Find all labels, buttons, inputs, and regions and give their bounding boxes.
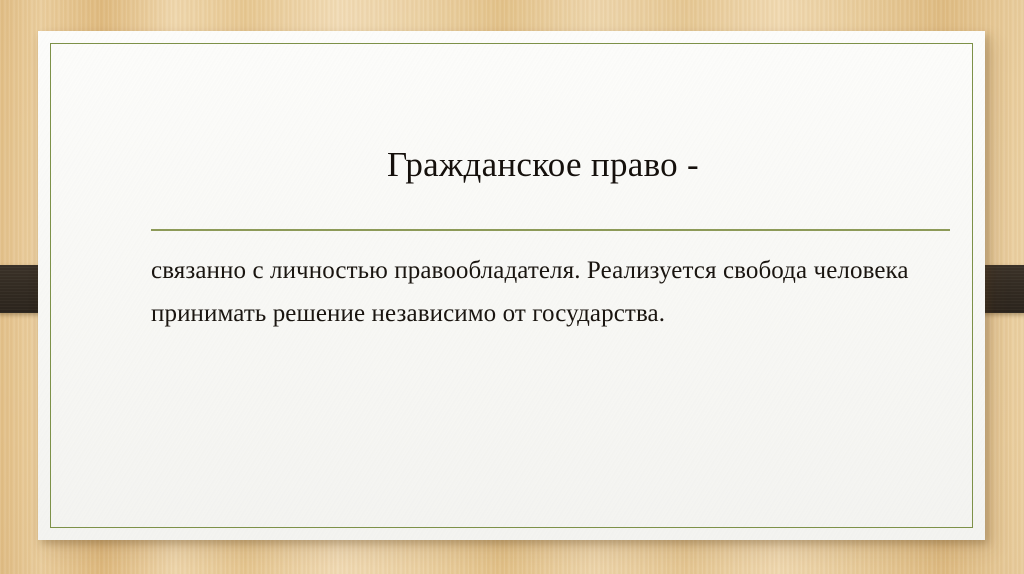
slide-card: Гражданское право - связанно с личностью… — [38, 31, 985, 540]
slide-title: Гражданское право - — [128, 144, 958, 186]
presentation-slide: Гражданское право - связанно с личностью… — [0, 0, 1024, 574]
title-divider-rule — [151, 229, 950, 231]
slide-body-text: связанно с личностью правообладателя. Ре… — [151, 249, 951, 335]
slide-content: Гражданское право - связанно с личностью… — [38, 31, 985, 540]
